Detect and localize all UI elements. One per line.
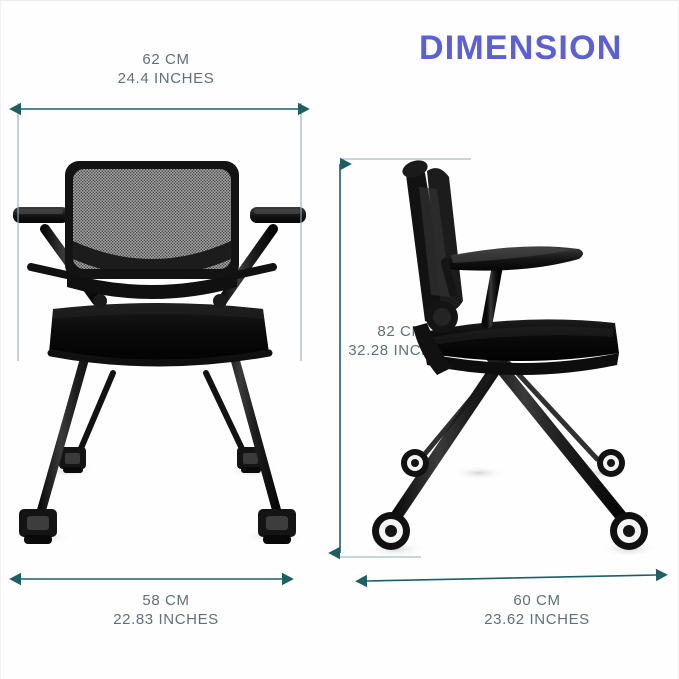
- dimension-infographic: DIMENSION: [0, 0, 679, 679]
- dimension-height-right: [340, 159, 471, 557]
- dimension-width-top: [18, 103, 301, 361]
- dimension-lines: [1, 1, 679, 679]
- dimension-depth-bottom: [367, 575, 656, 581]
